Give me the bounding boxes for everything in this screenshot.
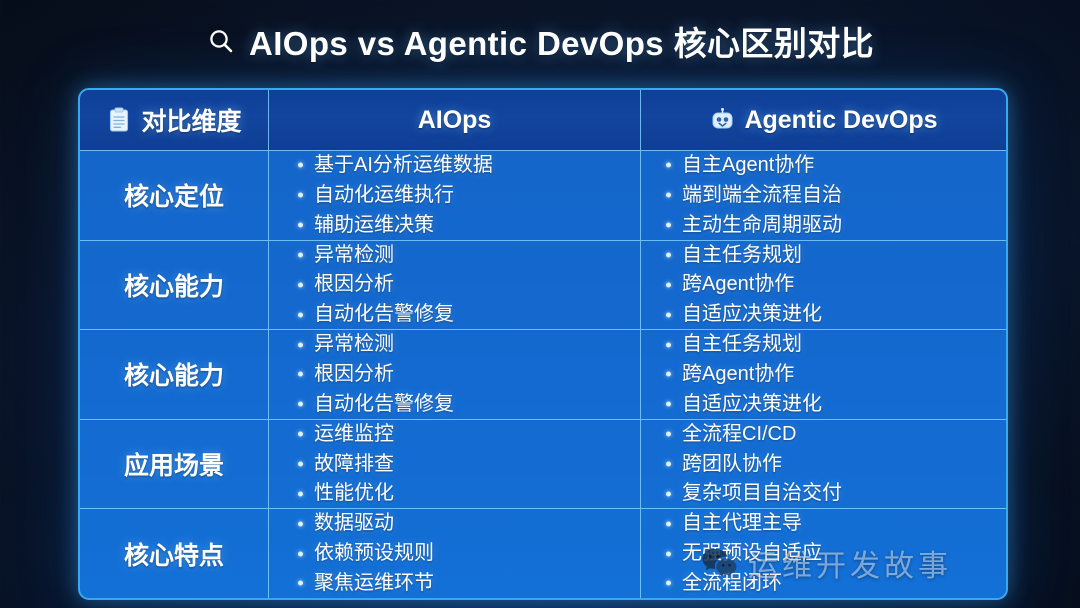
row-dimension-cell: 核心定位 [80, 151, 268, 240]
row-dimension-cell: 应用场景 [80, 420, 268, 509]
list-item: 依赖预设规则 [297, 540, 630, 567]
table-body: 对比维度 AIOps [80, 90, 1006, 598]
clipboard-icon [106, 107, 132, 133]
table-row: 应用场景 运维监控 故障排查 性能优化 全流程CI/CD 跨团队协作 复杂项目自… [80, 419, 1006, 509]
page-title: AIOps vs Agentic DevOps 核心区别对比 [249, 17, 874, 65]
agentic-bullet-list: 自主任务规划 跨Agent协作 自适应决策进化 [651, 242, 996, 328]
list-item: 全流程闭环 [665, 570, 996, 597]
agentic-bullet-list: 自主代理主导 无强预设自适应 全流程闭环 [651, 510, 996, 596]
row-agentic-cell: 自主任务规划 跨Agent协作 自适应决策进化 [640, 330, 1006, 419]
aiops-bullet-list: 基于AI分析运维数据 自动化运维执行 辅助运维决策 [279, 152, 630, 238]
list-item: 辅助运维决策 [297, 212, 630, 239]
row-agentic-cell: 自主任务规划 跨Agent协作 自适应决策进化 [640, 241, 1006, 330]
list-item: 自主Agent协作 [665, 152, 996, 179]
row-dimension-cell: 核心能力 [80, 330, 268, 419]
table-row: 核心能力 异常检测 根因分析 自动化告警修复 自主任务规划 跨Agent协作 自… [80, 329, 1006, 419]
aiops-bullet-list: 异常检测 根因分析 自动化告警修复 [279, 242, 630, 328]
table-row: 核心定位 基于AI分析运维数据 自动化运维执行 辅助运维决策 自主Agent协作… [80, 150, 1006, 240]
column-header-dimension: 对比维度 [80, 90, 268, 150]
row-dimension-label: 核心特点 [124, 536, 224, 572]
agentic-bullet-list: 全流程CI/CD 跨团队协作 复杂项目自治交付 [651, 421, 996, 507]
row-aiops-cell: 运维监控 故障排查 性能优化 [268, 420, 640, 509]
list-item: 跨Agent协作 [665, 361, 996, 388]
list-item: 主动生命周期驱动 [665, 212, 996, 239]
list-item: 复杂项目自治交付 [665, 480, 996, 507]
table-row: 核心能力 异常检测 根因分析 自动化告警修复 自主任务规划 跨Agent协作 自… [80, 240, 1006, 330]
row-agentic-cell: 全流程CI/CD 跨团队协作 复杂项目自治交付 [640, 420, 1006, 509]
comparison-table: 对比维度 AIOps [78, 88, 1008, 600]
list-item: 聚焦运维环节 [297, 570, 630, 597]
row-aiops-cell: 数据驱动 依赖预设规则 聚焦运维环节 [268, 509, 640, 598]
list-item: 自动化运维执行 [297, 182, 630, 209]
row-dimension-label: 核心定位 [124, 177, 224, 213]
table-header-row: 对比维度 AIOps [80, 90, 1006, 150]
list-item: 端到端全流程自治 [665, 182, 996, 209]
list-item: 自主任务规划 [665, 242, 996, 269]
row-dimension-cell: 核心特点 [80, 509, 268, 598]
column-header-aiops-label: AIOps [418, 106, 492, 135]
agentic-bullet-list: 自主任务规划 跨Agent协作 自适应决策进化 [651, 331, 996, 417]
list-item: 自适应决策进化 [665, 301, 996, 328]
list-item: 运维监控 [297, 421, 630, 448]
row-dimension-label: 核心能力 [124, 356, 224, 392]
row-aiops-cell: 基于AI分析运维数据 自动化运维执行 辅助运维决策 [268, 151, 640, 240]
list-item: 异常检测 [297, 242, 630, 269]
aiops-bullet-list: 运维监控 故障排查 性能优化 [279, 421, 630, 507]
column-header-aiops: AIOps [268, 90, 640, 150]
list-item: 自动化告警修复 [297, 391, 630, 418]
column-header-agentic-devops-label: Agentic DevOps [744, 106, 937, 135]
list-item: 跨团队协作 [665, 451, 996, 478]
list-item: 跨Agent协作 [665, 271, 996, 298]
table-row: 核心特点 数据驱动 依赖预设规则 聚焦运维环节 自主代理主导 无强预设自适应 全… [80, 508, 1006, 598]
column-header-agentic-devops: Agentic DevOps [640, 90, 1006, 150]
list-item: 全流程CI/CD [665, 421, 996, 448]
agentic-bullet-list: 自主Agent协作 端到端全流程自治 主动生命周期驱动 [651, 152, 996, 238]
list-item: 自主代理主导 [665, 510, 996, 537]
row-dimension-label: 核心能力 [124, 267, 224, 303]
list-item: 根因分析 [297, 271, 630, 298]
robot-icon [709, 107, 735, 133]
page-title-bar: AIOps vs Agentic DevOps 核心区别对比 [0, 17, 1080, 65]
list-item: 自动化告警修复 [297, 301, 630, 328]
row-aiops-cell: 异常检测 根因分析 自动化告警修复 [268, 241, 640, 330]
aiops-bullet-list: 异常检测 根因分析 自动化告警修复 [279, 331, 630, 417]
list-item: 基于AI分析运维数据 [297, 152, 630, 179]
list-item: 性能优化 [297, 480, 630, 507]
column-header-dimension-label: 对比维度 [141, 102, 241, 138]
list-item: 异常检测 [297, 331, 630, 358]
list-item: 根因分析 [297, 361, 630, 388]
list-item: 无强预设自适应 [665, 540, 996, 567]
row-dimension-label: 应用场景 [124, 446, 224, 482]
row-agentic-cell: 自主代理主导 无强预设自适应 全流程闭环 [640, 509, 1006, 598]
list-item: 自适应决策进化 [665, 391, 996, 418]
list-item: 数据驱动 [297, 510, 630, 537]
row-dimension-cell: 核心能力 [80, 241, 268, 330]
row-aiops-cell: 异常检测 根因分析 自动化告警修复 [268, 330, 640, 419]
row-agentic-cell: 自主Agent协作 端到端全流程自治 主动生命周期驱动 [640, 151, 1006, 240]
aiops-bullet-list: 数据驱动 依赖预设规则 聚焦运维环节 [279, 510, 630, 596]
search-icon [206, 26, 236, 56]
list-item: 自主任务规划 [665, 331, 996, 358]
list-item: 故障排查 [297, 451, 630, 478]
